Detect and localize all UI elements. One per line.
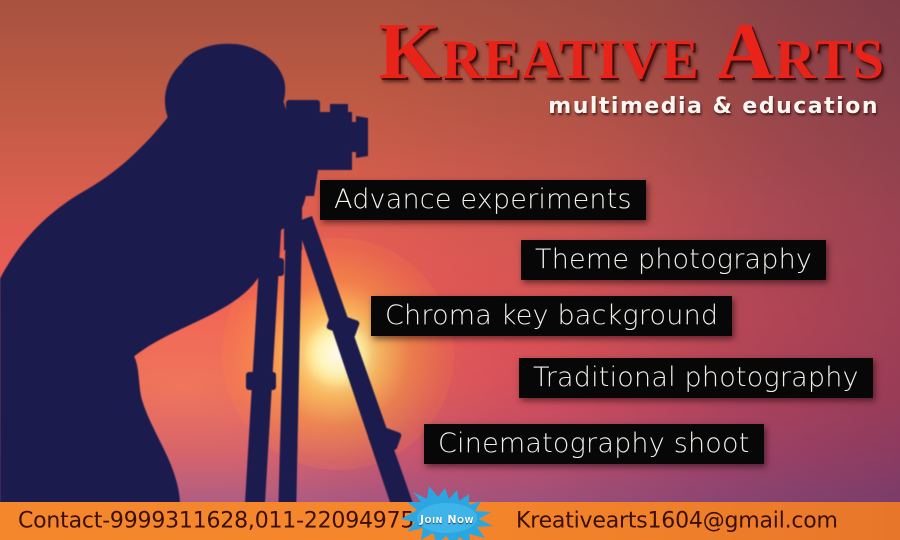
starburst-badge-icon [399,486,495,540]
service-item-chroma-key-background: Chroma key background [371,296,732,336]
join-now-badge[interactable]: Join Now [399,486,495,540]
service-item-cinematography-shoot: Cinematography shoot [424,424,764,464]
service-item-theme-photography: Theme photography [521,240,826,280]
service-item-advance-experiments: Advance experiments [320,180,646,220]
poster-canvas: Kreative Arts multimedia & education Adv… [0,0,900,540]
brand-tagline: multimedia & education [285,94,879,119]
service-item-traditional-photography: Traditional photography [519,358,873,398]
contact-email-text: Kreativearts1604@gmail.com [516,509,838,534]
page-title: Kreative Arts [285,16,885,90]
contact-phone-text: Contact-9999311628,011-22094975 [18,509,414,534]
brand-header: Kreative Arts multimedia & education [285,16,885,119]
